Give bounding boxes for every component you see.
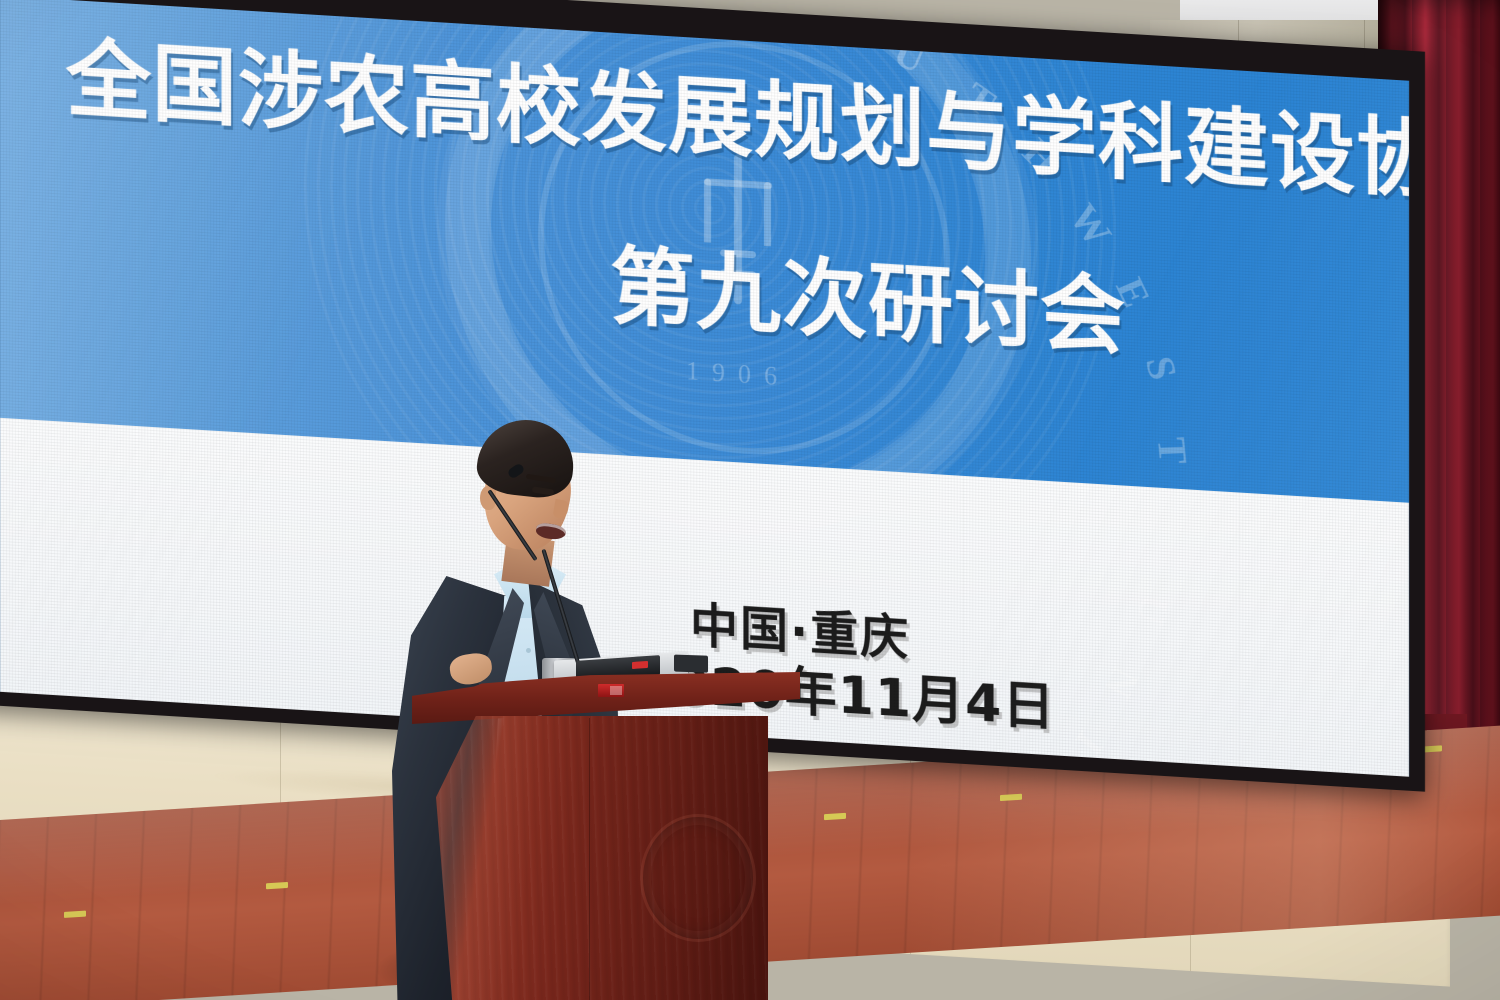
speaker-podium (412, 672, 800, 1000)
seal-ring-letter: O (813, 0, 853, 52)
podium-panel-seam (589, 718, 590, 1000)
podium-brand-badge (598, 684, 624, 697)
seal-ring-letter: T (1148, 436, 1197, 464)
nose (553, 499, 570, 519)
conference-photo-scene: 119 消火栓 (0, 0, 1500, 1000)
seal-ring-letter: S (742, 0, 766, 31)
podium-embossed-seal (640, 814, 756, 942)
microphone-indicator-light (632, 661, 648, 669)
